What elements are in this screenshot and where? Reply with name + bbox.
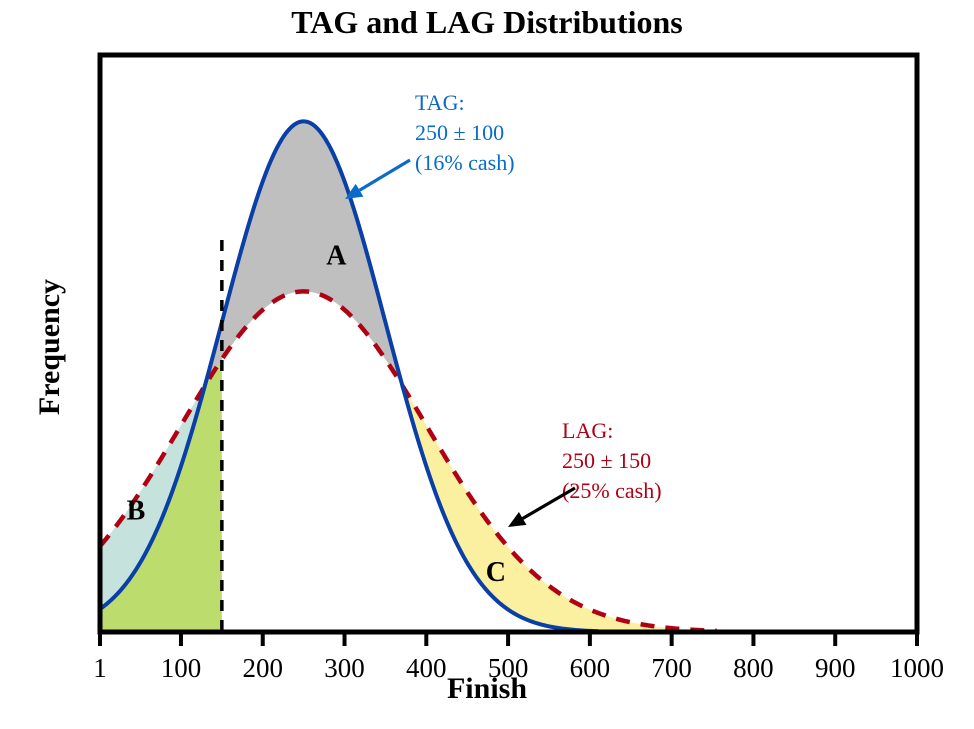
y-axis-label: Frequency	[33, 237, 67, 457]
region-fill-a	[205, 121, 403, 386]
chart-root: TAG and LAG Distributions 11002003004005…	[0, 0, 974, 729]
region-label-c: C	[486, 557, 506, 588]
region-label-a: A	[326, 240, 347, 271]
lag-annotation-line: (25% cash)	[562, 478, 662, 503]
lag-annotation-line: 250 ± 150	[562, 448, 651, 473]
x-axis-label: Finish	[0, 672, 974, 706]
region-label-b: B	[127, 496, 146, 527]
region-fills	[100, 121, 717, 632]
lag-annotation-arrow-shaft	[523, 488, 575, 518]
lag-annotation-line: LAG:	[562, 418, 613, 443]
tag-annotation-line: 250 ± 100	[415, 120, 504, 145]
plot-area: 11002003004005006007008009001000 ABC TAG…	[0, 0, 974, 729]
annotations: TAG:250 ± 100(16% cash)LAG:250 ± 150(25%…	[345, 90, 662, 527]
chart-title: TAG and LAG Distributions	[0, 4, 974, 41]
tag-annotation-line: (16% cash)	[415, 150, 515, 175]
tag-annotation-line: TAG:	[415, 90, 465, 115]
tag-annotation-arrow-shaft	[360, 160, 410, 190]
